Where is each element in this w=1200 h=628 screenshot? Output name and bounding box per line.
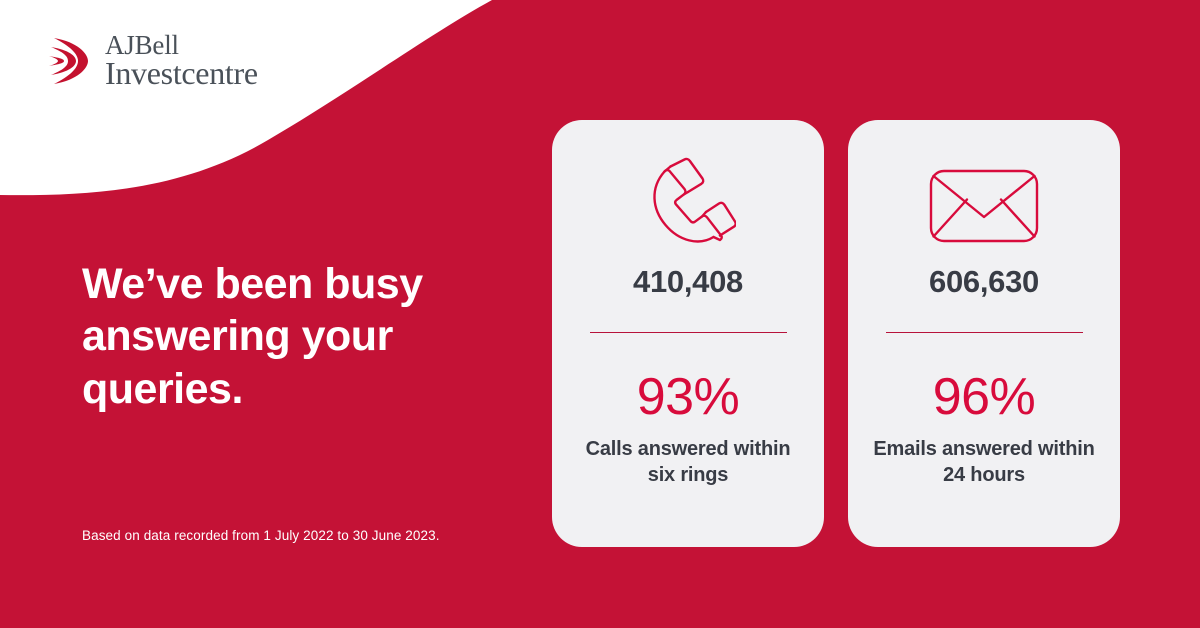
stat-card-calls: 410,408 93% Calls answered within six ri…	[552, 120, 824, 547]
logo: AJBell Investcentre	[48, 32, 258, 89]
stat-label: Calls answered within six rings	[574, 437, 802, 488]
stat-card-group: 410,408 93% Calls answered within six ri…	[552, 120, 1120, 547]
logo-wordmark: AJBell Investcentre	[105, 32, 258, 89]
swoosh-icon	[48, 34, 96, 88]
stat-count: 606,630	[929, 264, 1039, 300]
headline: We’ve been busy answering your queries.	[82, 258, 502, 415]
stat-percentage: 96%	[933, 371, 1036, 423]
card-divider	[590, 332, 787, 333]
card-divider	[886, 332, 1083, 333]
telephone-handset-icon	[640, 154, 736, 258]
stat-label: Emails answered within 24 hours	[870, 437, 1098, 488]
stat-card-emails: 606,630 96% Emails answered within 24 ho…	[848, 120, 1120, 547]
envelope-icon	[929, 154, 1039, 258]
promo-banner: AJBell Investcentre We’ve been busy answ…	[0, 0, 1200, 628]
logo-line-investcentre: Investcentre	[105, 58, 258, 90]
stat-percentage: 93%	[637, 371, 740, 423]
footnote: Based on data recorded from 1 July 2022 …	[82, 528, 440, 543]
stat-count: 410,408	[633, 264, 743, 300]
